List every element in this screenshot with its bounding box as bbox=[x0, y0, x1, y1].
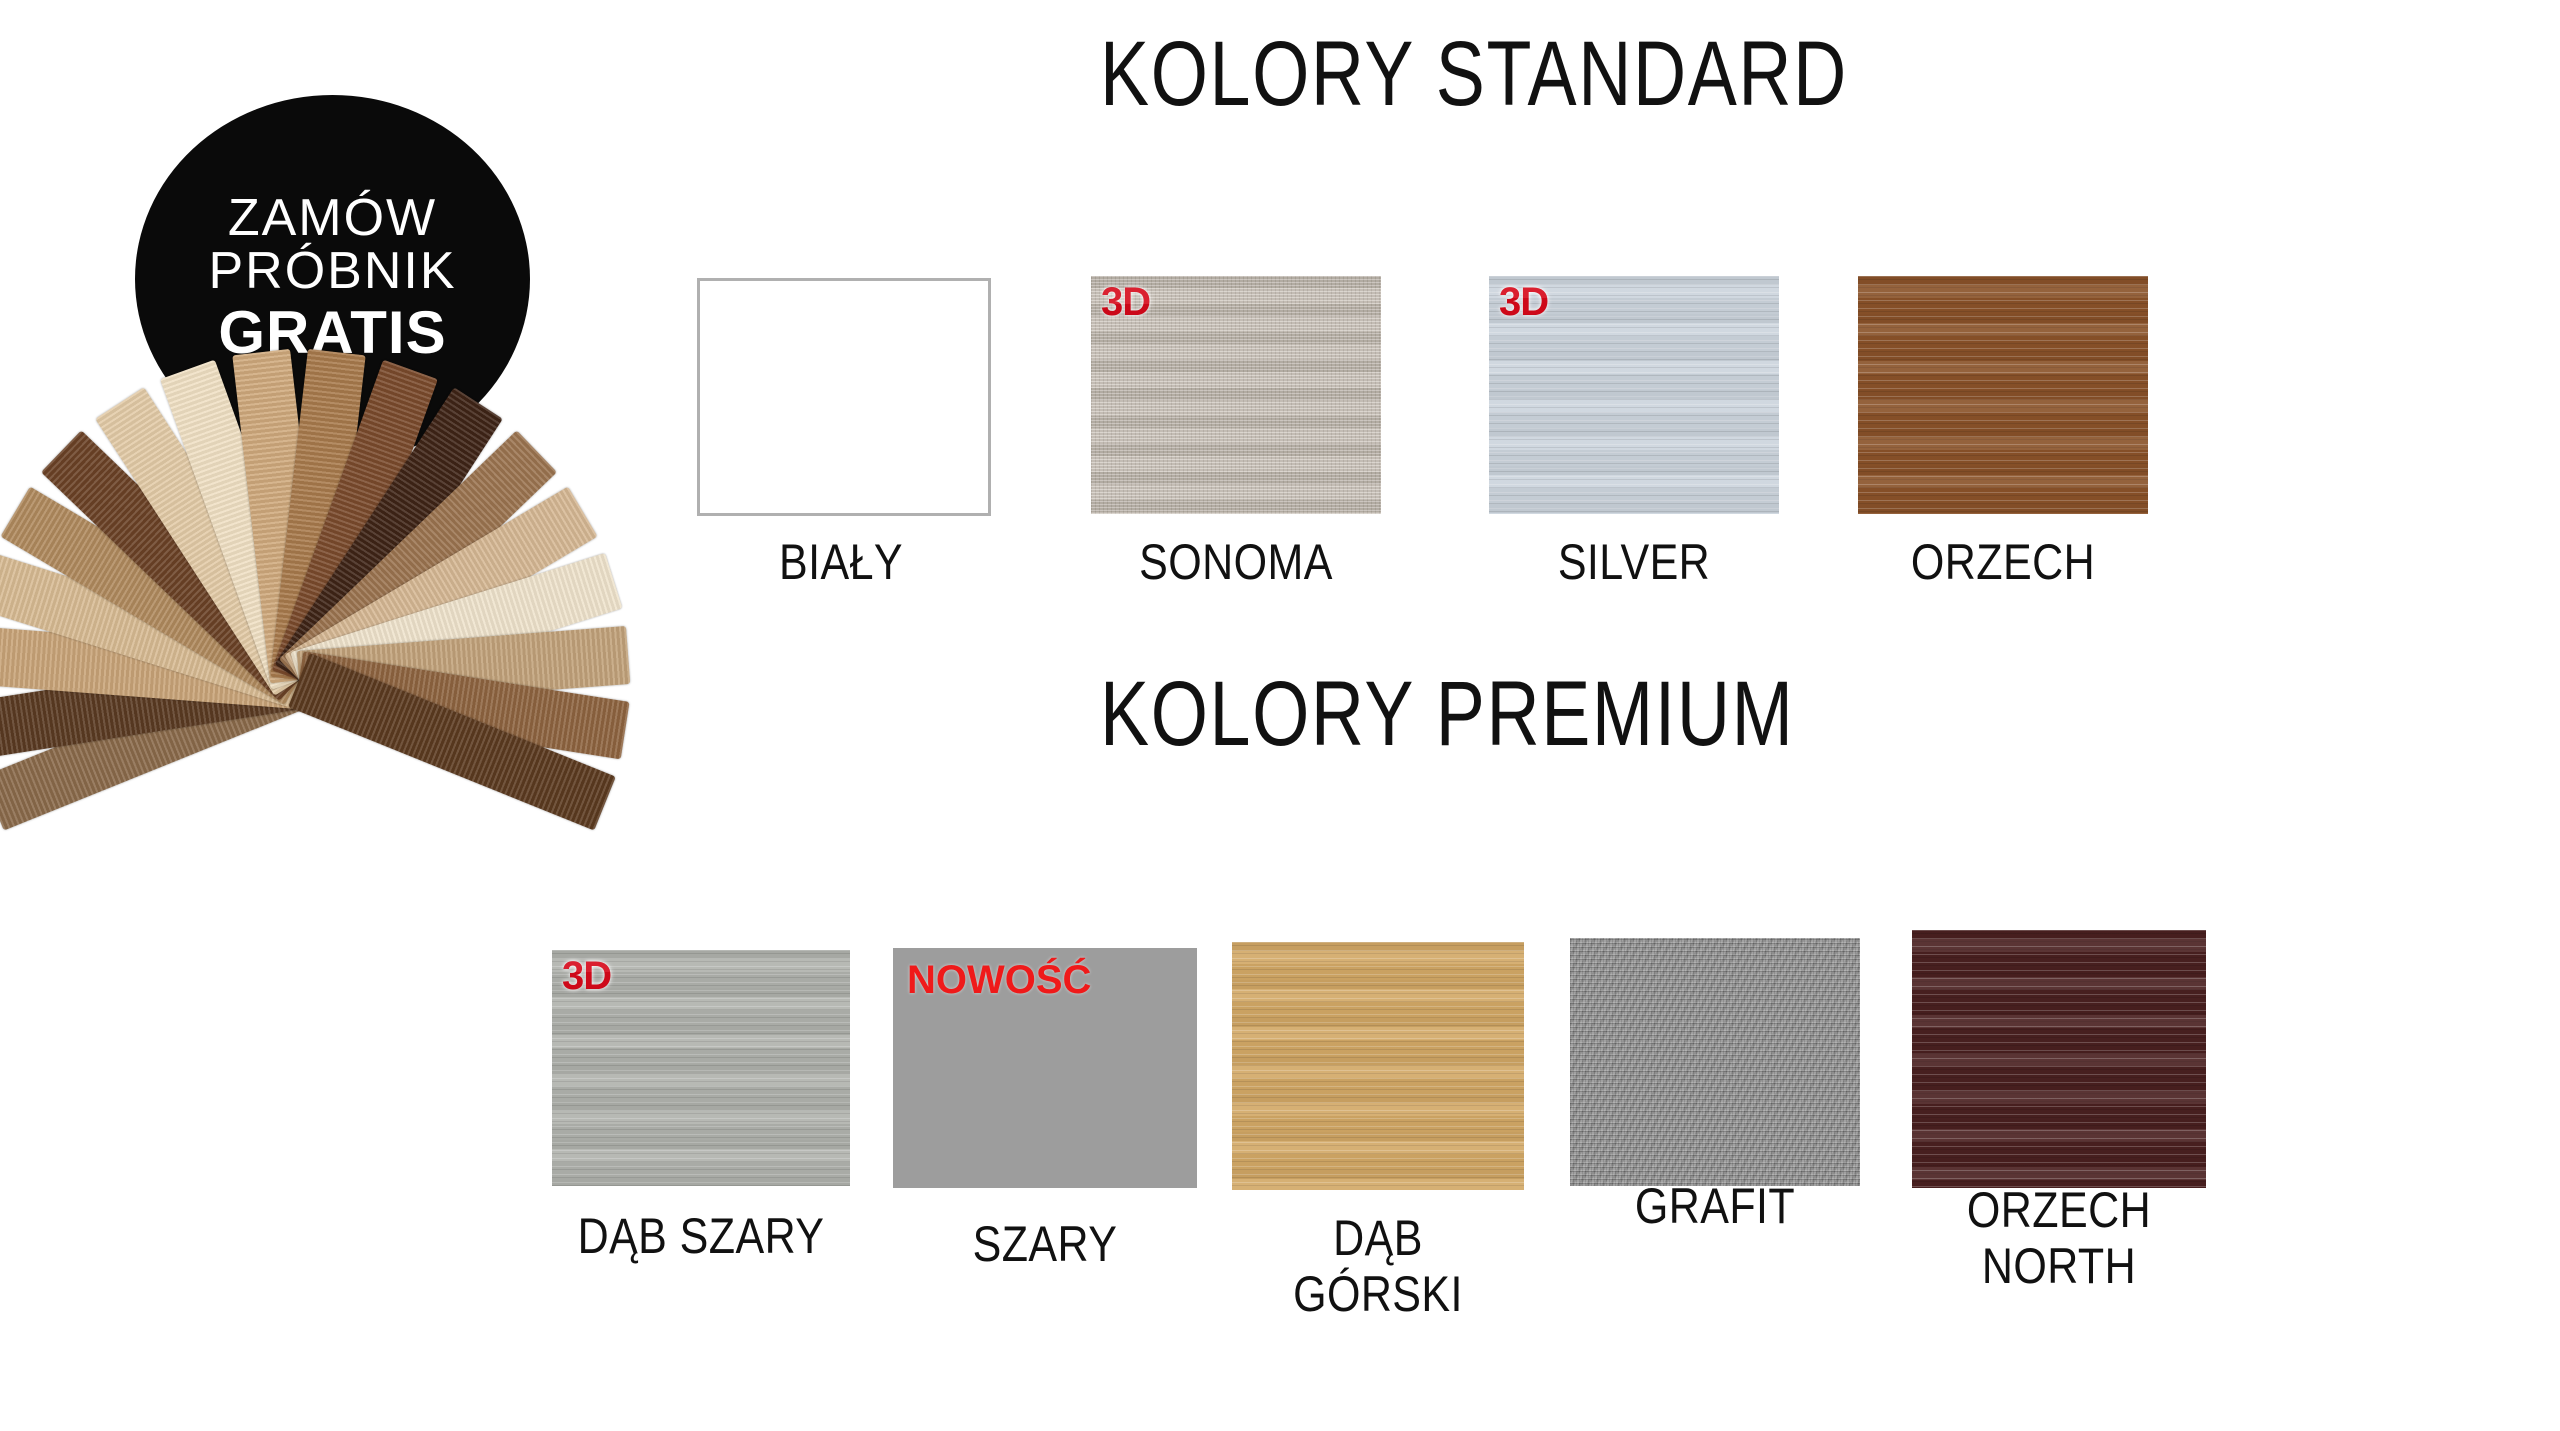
swatch-color-box[interactable] bbox=[1570, 938, 1860, 1186]
swatch-name-label: SZARY bbox=[914, 1216, 1175, 1272]
badge-nowosc-label: NOWOŚĆ bbox=[907, 960, 1091, 1000]
swatch-name-label: ORZECH NORTH bbox=[1933, 1182, 2186, 1294]
swatch-name-label: DĄB SZARY bbox=[573, 1208, 829, 1264]
swatch-color-box[interactable] bbox=[1912, 930, 2206, 1188]
color-swatch-premium-1[interactable]: 3DDĄB SZARY bbox=[552, 950, 850, 1326]
swatch-color-box[interactable]: 3D bbox=[552, 950, 850, 1186]
swatch-name-label: GRAFIT bbox=[1590, 1178, 1839, 1234]
color-swatch-premium-5[interactable]: ORZECH NORTH bbox=[1912, 930, 2206, 1328]
swatch-color-box[interactable]: NOWOŚĆ bbox=[893, 948, 1197, 1188]
swatch-color-box[interactable] bbox=[1232, 942, 1524, 1190]
swatch-name-label: DĄB GÓRSKI bbox=[1252, 1210, 1503, 1322]
color-swatch-premium-2[interactable]: NOWOŚĆSZARY bbox=[893, 948, 1197, 1328]
color-swatch-premium-4[interactable]: GRAFIT bbox=[1570, 938, 1860, 1326]
badge-3d-icon: 3D bbox=[562, 956, 611, 996]
color-swatch-premium-3[interactable]: DĄB GÓRSKI bbox=[1232, 942, 1524, 1330]
